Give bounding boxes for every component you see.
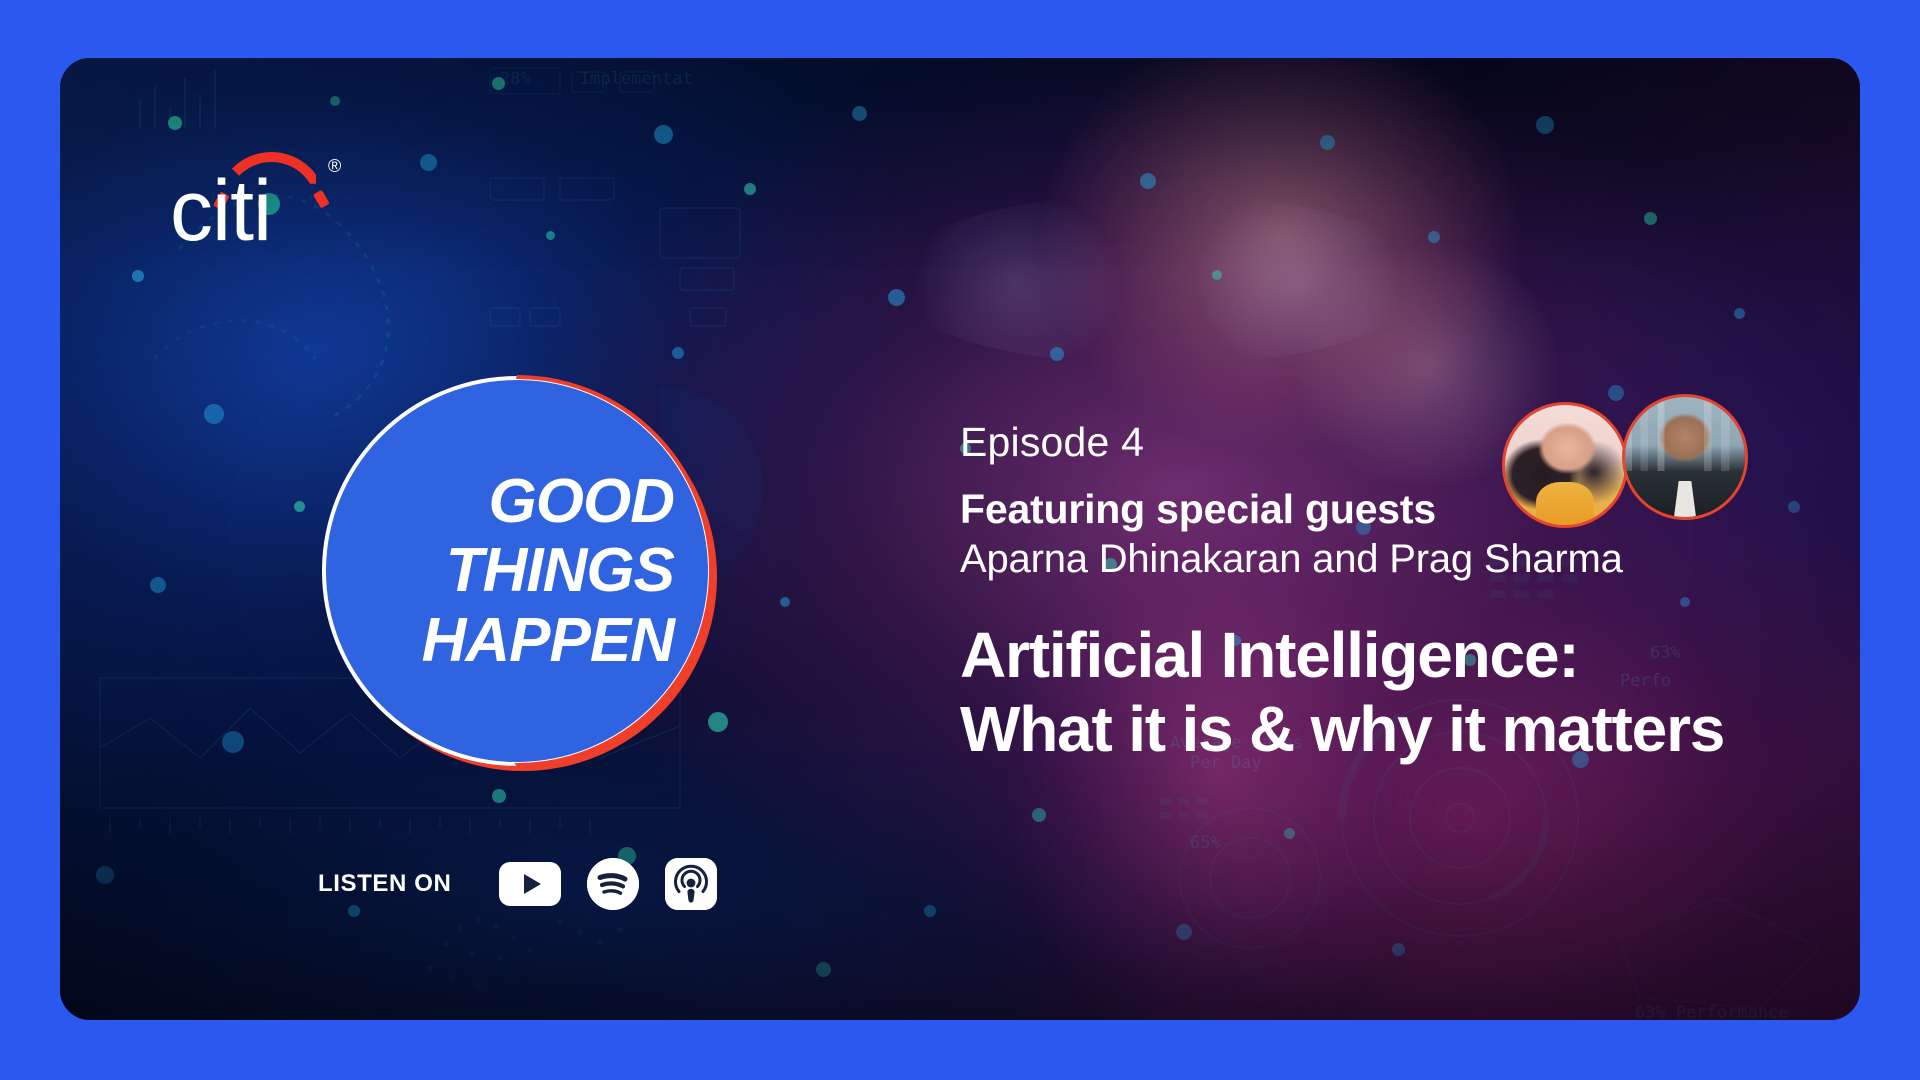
badge-line-3: HAPPEN: [422, 606, 674, 675]
play-triangle-icon: [524, 874, 541, 894]
guest-names: Aparna Dhinakaran and Prag Sharma: [960, 536, 1800, 583]
apple-podcasts-icon[interactable]: [665, 858, 717, 910]
avatar-photo-woman: [1505, 405, 1625, 525]
badge-line-1: GOOD: [489, 467, 674, 536]
citi-wordmark: citi: [170, 168, 271, 254]
listen-on-row: LISTEN ON: [318, 858, 717, 910]
badge-line-2: THINGS: [446, 536, 674, 605]
registered-trademark-icon: ®: [328, 156, 341, 177]
title-line-2: What it is & why it matters: [960, 692, 1800, 766]
avatar-photo-man: [1625, 397, 1745, 517]
listen-on-label: LISTEN ON: [318, 870, 451, 898]
citi-logo: citi ®: [170, 150, 360, 250]
podcast-cover-card: 63% Perfo Average Sales Per Day 28% Impl…: [60, 58, 1860, 1020]
title-line-1: Artificial Intelligence:: [960, 618, 1800, 692]
spotify-icon[interactable]: [587, 858, 639, 910]
avatar-prag-sharma: [1622, 394, 1748, 520]
youtube-icon[interactable]: [499, 862, 561, 906]
good-things-happen-badge: GOOD THINGS HAPPEN: [322, 376, 712, 766]
avatar-aparna-dhinakaran: [1502, 402, 1628, 528]
page-title: Artificial Intelligence: What it is & wh…: [960, 618, 1800, 766]
